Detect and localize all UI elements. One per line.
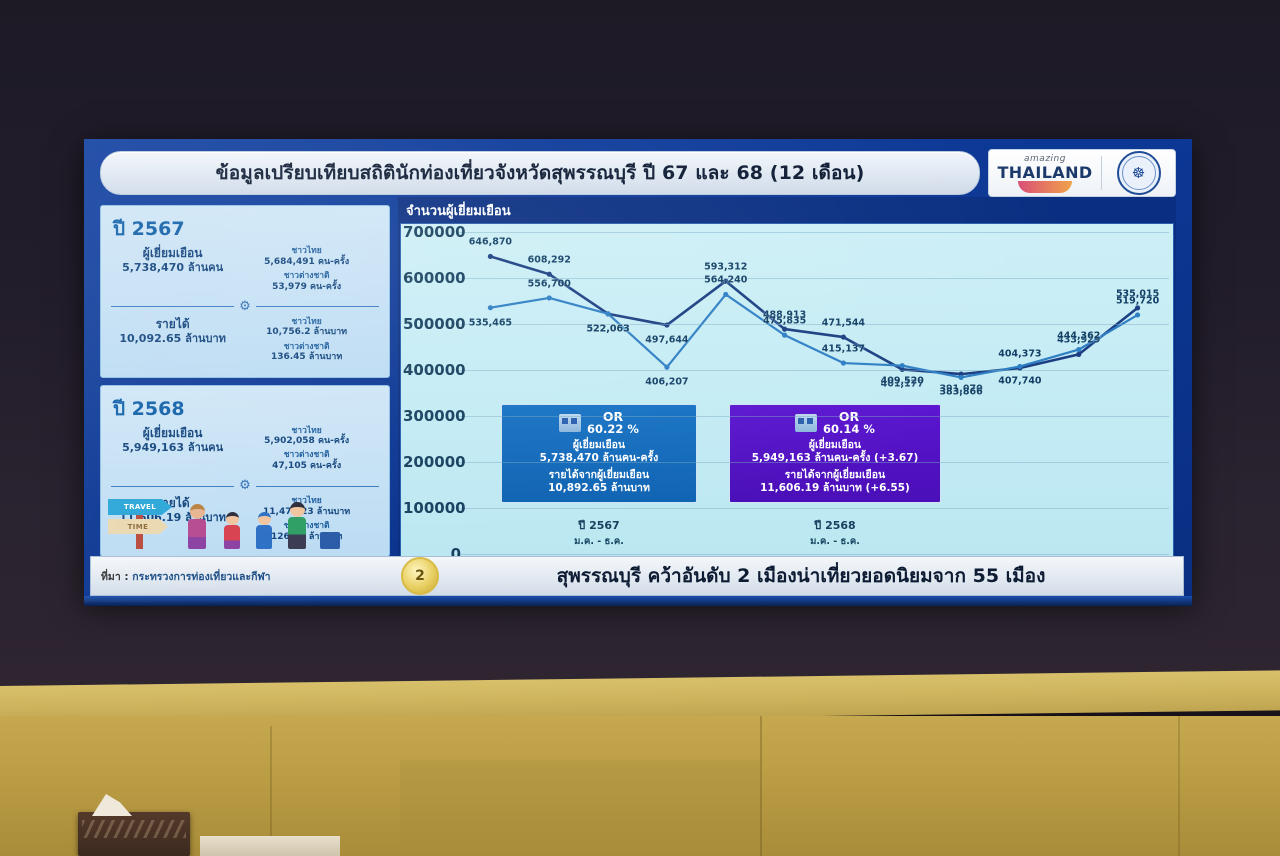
divider-line (111, 486, 234, 487)
suitcase-icon (320, 532, 340, 549)
chart-data-point (1135, 312, 1140, 317)
slide-canvas: ข้อมูลเปรียบเทียบสถิตินักท่องเที่ยวจังหว… (84, 139, 1192, 602)
chart-title: จำนวนผู้เยี่ยมเยือน (400, 199, 1174, 223)
visitors-label: ผู้เยี่ยมเยือน (111, 246, 234, 261)
source-value: กระทรวงการท่องเที่ยวและกีฬา (132, 571, 270, 583)
chart-data-label: 415,137 (822, 344, 865, 355)
or-caption-2568: ปี 2568 (737, 516, 933, 534)
source-credit: ที่มา : กระทรวงการท่องเที่ยวและกีฬา (91, 568, 401, 585)
or-revenue-label: รายได้จากผู้เยี่ยมเยือน (734, 469, 936, 482)
or-header: OR 60.22 % (506, 410, 692, 436)
chart-data-point (1076, 347, 1081, 352)
provincial-seal-icon: ☸ (1117, 151, 1161, 195)
chart-data-label: 608,292 (528, 255, 571, 266)
wall-seam (760, 716, 762, 856)
chart-data-label: 475,835 (763, 316, 806, 327)
chart-data-point (782, 333, 787, 338)
visitors-foreign-label: ชาวต่างชาติ (234, 450, 379, 461)
visitors-thai-value: 5,684,491 คน-ครั้ง (234, 257, 379, 268)
chart-data-label: 522,063 (586, 323, 629, 334)
visitors-thai-value: 5,902,058 คน-ครั้ง (234, 436, 379, 447)
chart-data-label: 556,700 (528, 278, 571, 289)
or-revenue-label: รายได้จากผู้เยี่ยมเยือน (506, 469, 692, 482)
year-label: ปี 2568 (113, 394, 379, 424)
card-divider: ⚙ (111, 300, 379, 314)
seal-glyph: ☸ (1132, 166, 1145, 181)
person-body (224, 525, 240, 549)
sign-travel-label: TRAVEL (124, 503, 156, 511)
person-head (290, 502, 305, 517)
travel-illustration: TRAVEL TIME (100, 491, 390, 549)
medal-icon: 2 (401, 557, 439, 595)
tissue-box (78, 812, 190, 856)
sign-time-label: TIME (128, 523, 149, 531)
or-visitors-value: 5,738,470 ล้านคน-ครั้ง (506, 452, 692, 466)
chart-data-label: 593,312 (704, 262, 747, 273)
or-percent: 60.14 % (823, 423, 875, 436)
person-head (258, 512, 271, 525)
visitors-foreign-value: 47,105 คน-ครั้ง (234, 461, 379, 472)
signpost-icon: TRAVEL TIME (106, 493, 178, 549)
chart-gridline (457, 554, 1169, 555)
shelf-edge (200, 836, 340, 856)
revenue-thai-label: ชาวไทย (234, 317, 379, 328)
chart-data-point (1017, 364, 1022, 369)
visitors-value: 5,949,163 ล้านคน (111, 441, 234, 455)
chart-data-point (782, 327, 787, 332)
or-caption-2567: ปี 2567 (501, 516, 697, 534)
chart-data-point (958, 375, 963, 380)
chart-data-point (488, 305, 493, 310)
gear-icon: ⚙ (238, 300, 252, 314)
or-revenue-value: 11,606.19 ล้านบาท (+6.55) (734, 482, 936, 496)
chart-data-label: 519,720 (1116, 295, 1159, 306)
person-mother (188, 504, 206, 549)
chart-panel: จำนวนผู้เยี่ยมเยือน OR 60.22 % ผู้เยี่ยม… (398, 197, 1176, 589)
tissue-box-pattern (82, 820, 186, 838)
y-axis-tick: 400000 (403, 361, 461, 379)
presentation-screen: ข้อมูลเปรียบเทียบสถิตินักท่องเที่ยวจังหว… (84, 139, 1192, 602)
person-head (190, 504, 205, 519)
smile-icon (1018, 181, 1072, 193)
or-box-2568: OR 60.14 % ผู้เยี่ยมเยือน 5,949,163 ล้าน… (729, 404, 941, 503)
divider-line (256, 306, 379, 307)
revenue-foreign-value: 136.45 ล้านบาท (234, 352, 379, 363)
visitors-value: 5,738,470 ล้านคน (111, 261, 234, 275)
logo-thailand-text: THAILAND (997, 163, 1092, 182)
person-body (288, 517, 306, 549)
page-title: ข้อมูลเปรียบเทียบสถิตินักท่องเที่ยวจังหว… (216, 158, 865, 188)
divider-line (256, 486, 379, 487)
chart-data-point (900, 363, 905, 368)
chart-data-point (605, 311, 610, 316)
amazing-thailand-wordmark: amazing THAILAND (989, 154, 1101, 193)
person-head (226, 512, 239, 525)
chart-data-label: 564,240 (704, 275, 747, 286)
slide-header: ข้อมูลเปรียบเทียบสถิตินักท่องเที่ยวจังหว… (100, 147, 1176, 199)
chart-data-label: 404,373 (998, 348, 1041, 359)
bottom-banner: ที่มา : กระทรวงการท่องเที่ยวและกีฬา 2 สุ… (90, 556, 1184, 596)
chart-data-point (547, 272, 552, 277)
person-body (188, 519, 206, 549)
provincial-seal-wrap: ☸ (1102, 151, 1175, 195)
person-child-2 (256, 512, 272, 549)
chart-data-label: 407,740 (998, 376, 1041, 387)
chart-data-label: 409,520 (881, 375, 924, 386)
chart-gridline (457, 324, 1169, 325)
or-visitors-label: ผู้เยี่ยมเยือน (734, 439, 936, 452)
chart-gridline (457, 508, 1169, 509)
chart-data-point (841, 360, 846, 365)
year-label: ปี 2567 (113, 214, 379, 244)
divider-line (111, 306, 234, 307)
revenue-thai-value: 10,756.2 ล้านบาท (234, 327, 379, 338)
or-box-2567: OR 60.22 % ผู้เยี่ยมเยือน 5,738,470 ล้าน… (501, 404, 697, 503)
summary-card-2567: ปี 2567 ผู้เยี่ยมเยือน 5,738,470 ล้านคน … (100, 205, 390, 378)
chart-data-label: 471,544 (822, 318, 865, 329)
y-axis-tick: 600000 (403, 269, 461, 287)
chart-data-label: 535,465 (469, 317, 512, 328)
or-subcaption-2568: ม.ค. - ธ.ค. (737, 534, 933, 549)
or-visitors-label: ผู้เยี่ยมเยือน (506, 439, 692, 452)
chart-data-point (723, 292, 728, 297)
chart-data-point (488, 254, 493, 259)
banner-headline: สุพรรณบุรี คว้าอันดับ 2 เมืองน่าเที่ยวยอ… (439, 561, 1183, 591)
or-visitors-value: 5,949,163 ล้านคน-ครั้ง (+3.67) (734, 452, 936, 466)
chart-gridline (457, 462, 1169, 463)
chart-data-point (664, 365, 669, 370)
visitors-thai-label: ชาวไทย (234, 426, 379, 437)
chart-line-series (490, 294, 1137, 377)
wall-seam (1178, 716, 1180, 856)
chart-data-label: 406,207 (645, 377, 688, 388)
chart-data-label: 383,866 (939, 387, 982, 398)
person-child-1 (224, 512, 240, 549)
chart-data-label: 444,362 (1057, 330, 1100, 341)
revenue-foreign-label: ชาวต่างชาติ (234, 342, 379, 353)
chart-plot-area: OR 60.22 % ผู้เยี่ยมเยือน 5,738,470 ล้าน… (400, 223, 1174, 593)
chart-data-label: 497,644 (645, 335, 688, 346)
y-axis-tick: 200000 (403, 453, 461, 471)
wall-panel (400, 760, 760, 856)
visitors-foreign-value: 53,979 คน-ครั้ง (234, 282, 379, 293)
revenue-value: 10,092.65 ล้านบาท (111, 332, 234, 346)
chart-gridline (457, 232, 1169, 233)
source-label: ที่มา : (101, 571, 129, 583)
person-body (256, 525, 272, 549)
or-subcaption-2567: ม.ค. - ธ.ค. (501, 534, 697, 549)
chart-data-point (1076, 352, 1081, 357)
y-axis-tick: 100000 (403, 499, 461, 517)
or-revenue-value: 10,892.65 ล้านบาท (506, 482, 692, 496)
chart-data-label: 646,870 (469, 237, 512, 248)
visitors-label: ผู้เยี่ยมเยือน (111, 426, 234, 441)
sign-travel: TRAVEL (108, 499, 172, 515)
family-illustration (184, 497, 374, 549)
person-father (288, 502, 306, 549)
chart-gridline (457, 370, 1169, 371)
logo-amazing-thailand: amazing THAILAND ☸ (988, 149, 1176, 197)
chart-gridline (457, 416, 1169, 417)
y-axis-tick: 700000 (403, 223, 461, 241)
or-percent: 60.22 % (587, 423, 639, 436)
sign-time: TIME (108, 519, 168, 534)
y-axis-tick: 300000 (403, 407, 461, 425)
chart-data-point (841, 334, 846, 339)
or-header: OR 60.14 % (734, 410, 936, 436)
tv-bezel-bottom (84, 596, 1192, 606)
visitors-thai-label: ชาวไทย (234, 246, 379, 257)
revenue-label: รายได้ (111, 317, 234, 332)
visitors-foreign-label: ชาวต่างชาติ (234, 271, 379, 282)
slide-title-pill: ข้อมูลเปรียบเทียบสถิตินักท่องเที่ยวจังหว… (100, 151, 980, 195)
y-axis-tick: 500000 (403, 315, 461, 333)
chart-data-point (547, 295, 552, 300)
